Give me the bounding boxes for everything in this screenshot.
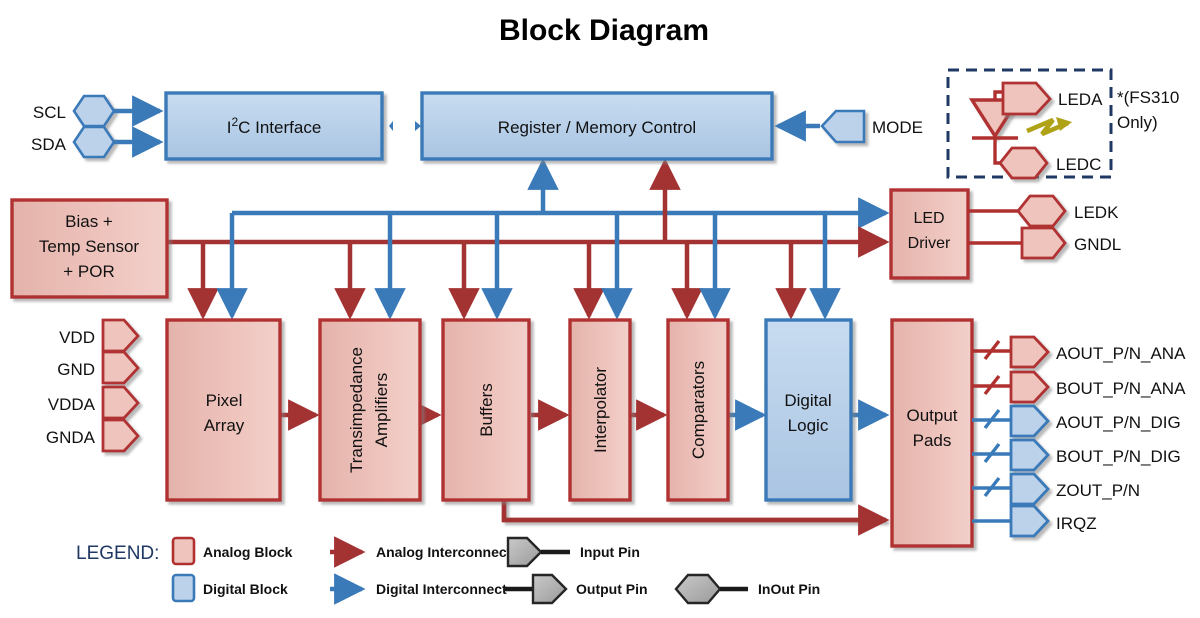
pin-aout-pn-ana[interactable]: AOUT_P/N_ANA	[972, 337, 1186, 367]
legend-label-digital-interconnect: Digital Interconnect	[376, 581, 507, 597]
pin-label-irqz: IRQZ	[1056, 514, 1097, 533]
block-label-interpolator: Interpolator	[591, 367, 610, 453]
pin-bout-pn-dig[interactable]: BOUT_P/N_DIG	[972, 440, 1181, 470]
block-label-led-driver-2: Driver	[908, 235, 951, 252]
fs310-note-line1: *(FS310	[1117, 88, 1179, 107]
pin-bout-pn-ana[interactable]: BOUT_P/N_ANA	[972, 372, 1186, 402]
pin-gndl[interactable]: GNDL	[968, 228, 1121, 258]
pin-label-ledc: LEDC	[1056, 155, 1101, 174]
block-led-driver[interactable]: LED Driver	[891, 190, 968, 278]
legend-label-analog-block: Analog Block	[203, 544, 293, 560]
pin-irqz[interactable]: IRQZ	[972, 506, 1097, 536]
legend-item-output-pin: Output Pin	[504, 575, 648, 603]
block-label-bias-2: Temp Sensor	[39, 237, 139, 256]
pin-label-scl: SCL	[33, 103, 66, 122]
pin-label-gnda: GNDA	[46, 428, 96, 447]
block-bias-temp-por[interactable]: Bias + Temp Sensor + POR	[12, 200, 167, 297]
pin-vdda[interactable]: VDDA	[48, 387, 138, 418]
legend-label-digital-block: Digital Block	[203, 581, 288, 597]
block-diagram-canvas: Block Diagram	[0, 0, 1200, 618]
pin-label-bout-dig: BOUT_P/N_DIG	[1056, 447, 1181, 466]
pin-zout-pn[interactable]: ZOUT_P/N	[972, 474, 1140, 504]
pin-ledk[interactable]: LEDK	[968, 196, 1119, 226]
pin-label-aout-ana: AOUT_P/N_ANA	[1056, 344, 1186, 363]
block-label-pixel-array-1: Pixel	[206, 391, 243, 410]
legend-label-output-pin: Output Pin	[576, 581, 648, 597]
pin-label-zout: ZOUT_P/N	[1056, 481, 1140, 500]
fs310-note-line2: Only)	[1117, 113, 1158, 132]
pin-label-sda: SDA	[31, 135, 67, 154]
block-label-led-driver-1: LED	[913, 210, 944, 227]
block-label-buffers: Buffers	[477, 383, 496, 437]
pin-sda[interactable]: SDA	[31, 127, 160, 157]
legend-item-inout-pin: InOut Pin	[676, 575, 820, 603]
block-label-i2c: I2C Interface	[227, 115, 322, 137]
pin-mode[interactable]: MODE	[778, 111, 923, 142]
block-label-digital-logic-1: Digital	[784, 391, 831, 410]
pin-label-vdda: VDDA	[48, 395, 96, 414]
pin-vdd[interactable]: VDD	[59, 320, 138, 351]
pin-label-mode: MODE	[872, 118, 923, 137]
pin-label-vdd: VDD	[59, 328, 95, 347]
block-interpolator[interactable]: Interpolator	[570, 320, 630, 500]
legend: LEGEND: Analog Block Digital Block Analo…	[76, 538, 820, 603]
block-label-comparators: Comparators	[689, 361, 708, 459]
block-label-output-pads-1: Output	[906, 406, 957, 425]
pin-leda[interactable]: LEDA	[1003, 83, 1103, 114]
pin-label-leda: LEDA	[1058, 90, 1103, 109]
link-i2c-register	[388, 121, 421, 131]
block-label-tia-2: Amplifiers	[372, 373, 391, 448]
legend-label-input-pin: Input Pin	[580, 544, 640, 560]
block-pixel-array[interactable]: Pixel Array	[167, 320, 280, 500]
legend-label-inout-pin: InOut Pin	[758, 581, 820, 597]
pin-label-gndl: GNDL	[1074, 235, 1121, 254]
pin-label-aout-dig: AOUT_P/N_DIG	[1056, 413, 1181, 432]
pin-gnd[interactable]: GND	[57, 352, 138, 383]
fs310-optional-led-group: LEDA LEDC *(FS310 Only)	[948, 70, 1179, 178]
block-i2c-interface[interactable]: I2C Interface	[166, 93, 382, 159]
legend-item-analog-block: Analog Block	[173, 538, 293, 564]
block-label-output-pads-2: Pads	[913, 431, 952, 450]
page-title: Block Diagram	[499, 14, 709, 47]
block-label-digital-logic-2: Logic	[788, 416, 829, 435]
block-digital-logic[interactable]: Digital Logic	[766, 320, 851, 500]
pin-label-bout-ana: BOUT_P/N_ANA	[1056, 379, 1186, 398]
block-output-pads[interactable]: Output Pads	[892, 320, 972, 546]
block-label-bias-1: Bias +	[65, 212, 113, 231]
legend-item-digital-interconnect: Digital Interconnect	[330, 581, 507, 597]
pin-ledc[interactable]: LEDC	[1000, 148, 1101, 178]
block-label-tia-1: Transimpedance	[347, 347, 366, 473]
block-label-bias-3: + POR	[63, 262, 115, 281]
block-transimpedance-amplifiers[interactable]: Transimpedance Amplifiers	[320, 320, 420, 500]
legend-label-analog-interconnect: Analog Interconnect	[376, 544, 512, 560]
pin-aout-pn-dig[interactable]: AOUT_P/N_DIG	[972, 406, 1181, 436]
legend-title: LEGEND:	[76, 543, 159, 564]
legend-item-digital-block: Digital Block	[173, 575, 288, 601]
legend-item-analog-interconnect: Analog Interconnect	[330, 544, 512, 560]
block-label-register: Register / Memory Control	[498, 118, 696, 137]
block-label-pixel-array-2: Array	[204, 416, 245, 435]
block-register-memory-control[interactable]: Register / Memory Control	[422, 93, 772, 159]
block-comparators[interactable]: Comparators	[668, 320, 728, 500]
pin-gnda[interactable]: GNDA	[46, 420, 138, 451]
pin-label-ledk: LEDK	[1074, 203, 1119, 222]
pin-scl[interactable]: SCL	[33, 96, 160, 126]
block-buffers[interactable]: Buffers	[443, 320, 529, 500]
pin-label-gnd: GND	[57, 360, 95, 379]
legend-item-input-pin: Input Pin	[508, 538, 640, 566]
